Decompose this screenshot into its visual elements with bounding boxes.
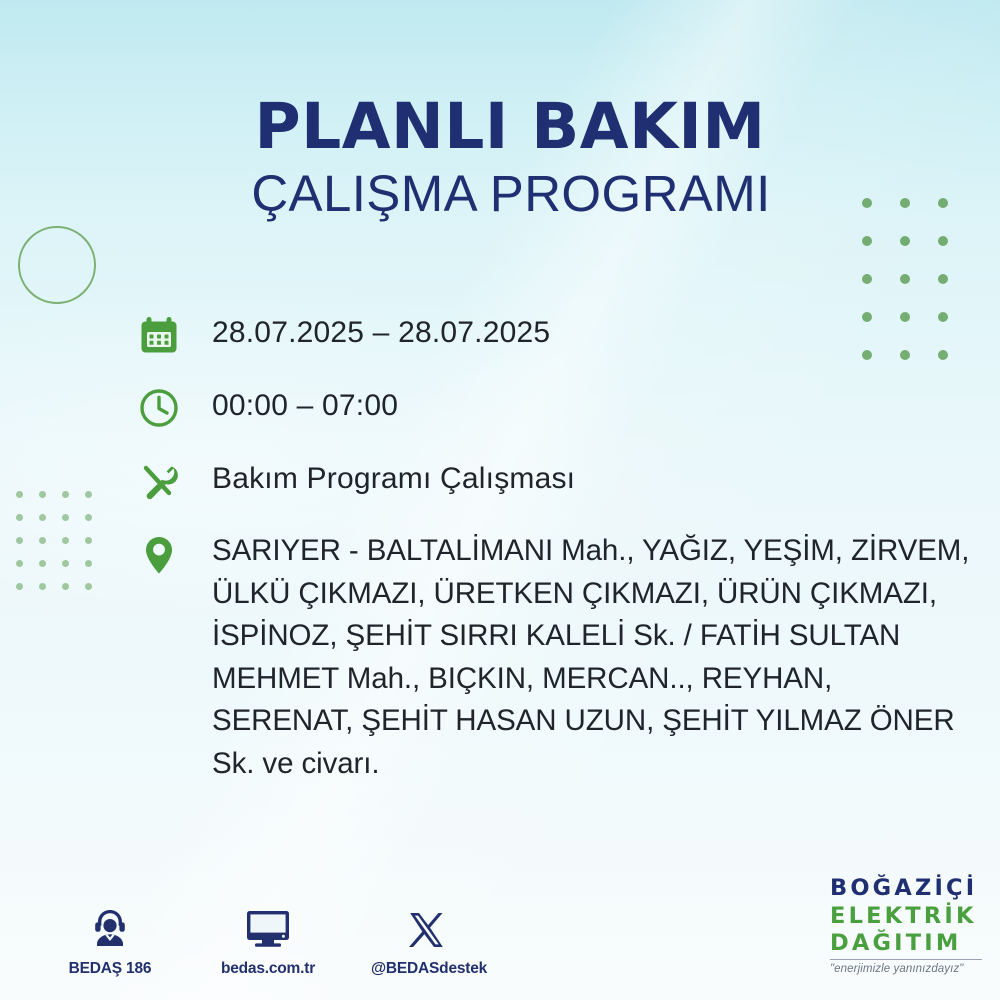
decorative-dot: [85, 491, 92, 498]
decorative-dot: [85, 560, 92, 567]
decorative-dot: [62, 560, 69, 567]
decorative-dot: [900, 274, 910, 284]
logo-line-bogazici: BOĞAZİÇİ: [830, 877, 982, 900]
contact-label: bedas.com.tr: [213, 960, 323, 978]
map-pin-icon: [136, 530, 182, 578]
bedas-logo: BOĞAZİÇİ ELEKTRİK DAĞITIM "enerjimizle y…: [830, 877, 982, 975]
decorative-dot: [862, 236, 872, 246]
contact-item[interactable]: bedas.com.tr: [213, 903, 323, 978]
location-line: Sk. ve civarı.: [212, 743, 969, 786]
contact-label: BEDAŞ 186: [55, 960, 165, 978]
info-row-time: 00:00 – 07:00: [136, 385, 966, 431]
decorative-dot: [16, 491, 23, 498]
decorative-dot: [938, 274, 948, 284]
decorative-dot: [39, 560, 46, 567]
time-range-text: 00:00 – 07:00: [182, 385, 398, 421]
poster-canvas: PLANLI BAKIM ÇALIŞMA PROGRAMI: [0, 0, 1000, 1000]
decorative-dot: [62, 491, 69, 498]
decorative-dot: [39, 537, 46, 544]
dot-grid-left-decoration: [16, 491, 108, 606]
info-list: 28.07.2025 – 28.07.2025 00:00 – 07:00: [136, 312, 966, 808]
decorative-dot: [16, 560, 23, 567]
decorative-dot: [85, 514, 92, 521]
location-text: SARIYER - BALTALİMANI Mah., YAĞIZ, YEŞİM…: [182, 530, 969, 785]
info-row-work-type: Bakım Programı Çalışması: [136, 458, 966, 504]
decorative-dot: [39, 514, 46, 521]
location-line: SARIYER - BALTALİMANI Mah., YAĞIZ, YEŞİM…: [212, 530, 969, 573]
contact-item[interactable]: BEDAŞ 186: [55, 903, 165, 978]
decorative-dot: [85, 583, 92, 590]
decorative-dot: [39, 491, 46, 498]
title-main: PLANLI BAKIM: [0, 95, 1000, 158]
decorative-dot: [900, 236, 910, 246]
monitor-icon: [213, 903, 323, 951]
circle-outline-decoration: [18, 226, 96, 304]
title-sub: ÇALIŞMA PROGRAMI: [0, 168, 1000, 219]
logo-line-dagitim: DAĞITIM: [830, 932, 982, 955]
work-type-text: Bakım Programı Çalışması: [182, 458, 575, 494]
decorative-dot: [62, 537, 69, 544]
logo-tagline: "enerjimizle yanınızdayız": [830, 964, 982, 976]
decorative-dot: [62, 583, 69, 590]
location-line: ÜLKÜ ÇIKMAZI, ÜRETKEN ÇIKMAZI, ÜRÜN ÇIKM…: [212, 573, 969, 616]
decorative-dot: [85, 537, 92, 544]
footer-contacts: BEDAŞ 186bedas.com.tr@BEDASdestek: [55, 903, 481, 978]
calendar-icon: [136, 312, 182, 358]
date-range-text: 28.07.2025 – 28.07.2025: [182, 312, 550, 348]
clock-icon: [136, 385, 182, 431]
decorative-dot: [62, 514, 69, 521]
decorative-dot: [16, 537, 23, 544]
logo-divider: [830, 959, 982, 960]
tools-icon: [136, 458, 182, 504]
location-line: MEHMET Mah., BIÇKIN, MERCAN.., REYHAN,: [212, 658, 969, 701]
info-row-date: 28.07.2025 – 28.07.2025: [136, 312, 966, 358]
decorative-dot: [16, 514, 23, 521]
location-line: İSPİNOZ, ŞEHİT SIRRI KALELİ Sk. / FATİH …: [212, 615, 969, 658]
decorative-dot: [16, 583, 23, 590]
decorative-dot: [39, 583, 46, 590]
decorative-dot: [862, 274, 872, 284]
page-title: PLANLI BAKIM ÇALIŞMA PROGRAMI: [0, 95, 1000, 219]
x-social-icon: [371, 903, 481, 951]
decorative-dot: [938, 236, 948, 246]
call-center-agent-icon: [55, 903, 165, 951]
contact-label: @BEDASdestek: [371, 960, 481, 978]
location-line: SERENAT, ŞEHİT HASAN UZUN, ŞEHİT YILMAZ …: [212, 700, 969, 743]
contact-item[interactable]: @BEDASdestek: [371, 903, 481, 978]
logo-line-elektrik: ELEKTRİK: [830, 905, 982, 928]
info-row-location: SARIYER - BALTALİMANI Mah., YAĞIZ, YEŞİM…: [136, 530, 966, 785]
